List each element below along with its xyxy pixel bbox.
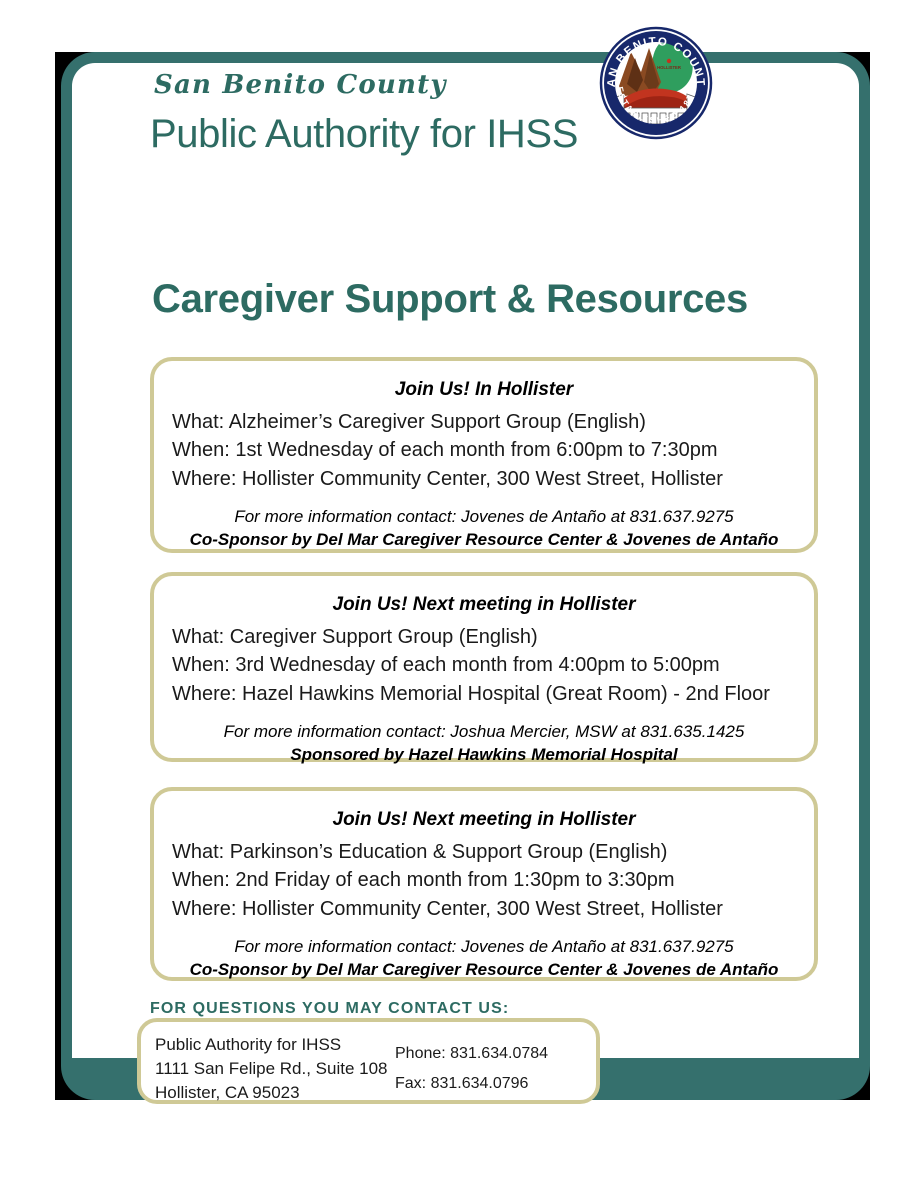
event-sponsor: Co-Sponsor by Del Mar Caregiver Resource… [154, 530, 814, 550]
footer-heading: FOR QUESTIONS YOU MAY CONTACT US: [150, 1000, 509, 1018]
event-what: What: Alzheimer’s Caregiver Support Grou… [154, 408, 814, 436]
event-where: Where: Hazel Hawkins Memorial Hospital (… [154, 680, 814, 708]
event-sponsor: Co-Sponsor by Del Mar Caregiver Resource… [154, 960, 814, 980]
event-contact: For more information contact: Jovenes de… [154, 507, 814, 527]
event-what: What: Parkinson’s Education & Support Gr… [154, 838, 814, 866]
seal-marker-label: HOLLISTER [657, 65, 681, 70]
event-when: When: 2nd Friday of each month from 1:30… [154, 866, 814, 894]
contact-phone: Phone: 831.634.0784 [395, 1039, 548, 1069]
event-join-heading: Join Us! In Hollister [154, 379, 814, 401]
contact-org: Public Authority for IHSS [155, 1033, 388, 1057]
contact-card: Public Authority for IHSS 1111 San Felip… [137, 1018, 600, 1104]
event-sponsor: Sponsored by Hazel Hawkins Memorial Hosp… [154, 745, 814, 765]
contact-phone-block: Phone: 831.634.0784 Fax: 831.634.0796 [395, 1039, 548, 1098]
contact-address: Public Authority for IHSS 1111 San Felip… [155, 1033, 388, 1105]
organization-title: Public Authority for IHSS [150, 112, 578, 157]
page-title: Caregiver Support & Resources [152, 277, 748, 322]
contact-city: Hollister, CA 95023 [155, 1081, 388, 1105]
event-join-heading: Join Us! Next meeting in Hollister [154, 594, 814, 616]
event-where: Where: Hollister Community Center, 300 W… [154, 465, 814, 493]
event-where: Where: Hollister Community Center, 300 W… [154, 895, 814, 923]
event-contact: For more information contact: Joshua Mer… [154, 722, 814, 742]
contact-fax: Fax: 831.634.0796 [395, 1069, 548, 1099]
county-script-title: San Benito County [154, 70, 447, 100]
event-when: When: 3rd Wednesday of each month from 4… [154, 651, 814, 679]
event-what: What: Caregiver Support Group (English) [154, 623, 814, 651]
event-card: Join Us! In Hollister What: Alzheimer’s … [150, 357, 818, 553]
event-card: Join Us! Next meeting in Hollister What:… [150, 787, 818, 981]
event-join-heading: Join Us! Next meeting in Hollister [154, 809, 814, 831]
contact-street: 1111 San Felipe Rd., Suite 108 [155, 1057, 388, 1081]
event-card: Join Us! Next meeting in Hollister What:… [150, 572, 818, 762]
san-benito-county-seal-icon: HOLLISTER SAN BENITO COUNTY ESTABLISHED … [597, 24, 715, 142]
event-contact: For more information contact: Jovenes de… [154, 937, 814, 957]
event-when: When: 1st Wednesday of each month from 6… [154, 436, 814, 464]
